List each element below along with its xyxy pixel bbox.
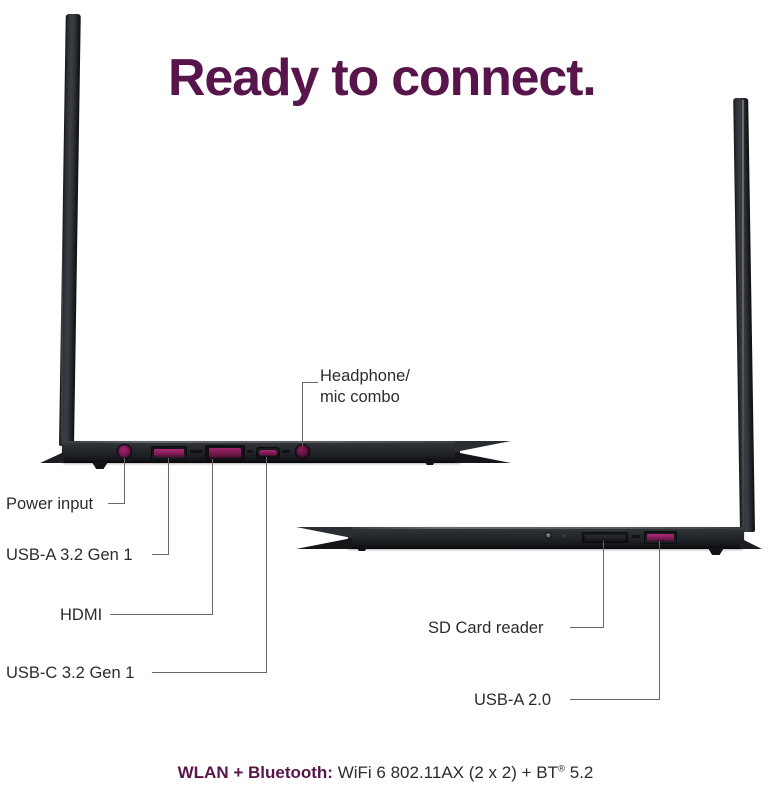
laptop-right-base: [348, 527, 744, 549]
laptop-left-lid-highlight: [61, 16, 63, 444]
usb-c-port-contacts: [259, 450, 277, 457]
laptop-right-base-taper: [296, 527, 352, 549]
wlan-bluetooth-spec: WLAN + Bluetooth: WiFi 6 802.11AX (2 x 2…: [0, 763, 771, 783]
laptop-right-foot: [708, 548, 724, 555]
usb-a-port-contacts: [154, 449, 184, 457]
registered-trademark-mark: ®: [558, 763, 565, 774]
label-sd-card-reader: SD Card reader: [428, 618, 544, 639]
leader-usb-a-horizontal: [152, 554, 169, 555]
leader-usb-a-20-horizontal: [570, 699, 660, 700]
left-chassis-vent-a: [190, 450, 203, 453]
laptop-right-base-shadow: [348, 546, 744, 549]
laptop-left-base-tip: [40, 441, 64, 463]
wlan-bluetooth-label: WLAN + Bluetooth:: [178, 763, 333, 782]
label-usb-a-32-gen1: USB-A 3.2 Gen 1: [6, 545, 133, 566]
laptop-left-base-shadow: [62, 460, 460, 463]
leader-headphone-horizontal: [302, 382, 318, 383]
left-chassis-vent-c: [282, 450, 290, 453]
hdmi-port-contacts: [209, 448, 241, 458]
label-usb-c-32-gen1: USB-C 3.2 Gen 1: [6, 663, 134, 684]
leader-sd-card-vertical: [603, 541, 604, 628]
label-hdmi: HDMI: [60, 605, 102, 626]
label-headphone-mic-combo: Headphone/ mic combo: [320, 366, 410, 408]
sd-card-slot-opening: [585, 535, 625, 541]
leader-sd-card-horizontal: [570, 627, 604, 628]
leader-usb-c-horizontal: [152, 672, 267, 673]
power-input-port: [118, 445, 131, 458]
usb-a-20-port: [644, 531, 677, 544]
label-headphone-line2: mic combo: [320, 387, 410, 408]
laptop-right-screen-lid: [733, 98, 755, 532]
leader-usb-c-vertical: [266, 457, 267, 673]
laptop-left-foot: [92, 462, 108, 469]
headphone-mic-jack: [296, 445, 309, 458]
power-led: [546, 533, 551, 538]
wlan-bluetooth-value-post: 5.2: [570, 763, 594, 782]
right-chassis-vent: [632, 535, 640, 538]
leader-headphone-vertical: [302, 382, 303, 446]
label-headphone-line1: Headphone/: [320, 366, 410, 387]
left-chassis-vent-b: [247, 450, 253, 453]
leader-hdmi-horizontal: [110, 614, 213, 615]
page-title: Ready to connect.: [168, 48, 595, 108]
product-infographic: Ready to connect.: [0, 0, 771, 798]
sd-card-slot: [582, 532, 628, 543]
leader-usb-a-20-vertical: [659, 541, 660, 700]
usb-c-port: [256, 447, 280, 459]
usb-a-20-port-contacts: [647, 534, 674, 541]
leader-power-input-vertical: [124, 458, 125, 504]
laptop-right-lid-highlight: [742, 100, 744, 530]
leader-power-input-horizontal: [108, 503, 125, 504]
hdmi-port: [205, 445, 245, 461]
laptop-right-base-tip: [740, 527, 762, 549]
laptop-left-base-highlight: [62, 441, 460, 443]
leader-hdmi-vertical: [212, 459, 213, 615]
novo-button: [562, 534, 566, 538]
laptop-right-base-highlight: [348, 527, 744, 529]
laptop-right-foot-left: [355, 545, 369, 551]
wlan-bluetooth-value-pre: WiFi 6 802.11AX (2 x 2) + BT: [338, 763, 558, 782]
laptop-left-foot-right: [423, 459, 437, 465]
label-usb-a-20: USB-A 2.0: [474, 690, 551, 711]
label-power-input: Power input: [6, 494, 93, 515]
leader-usb-a-vertical: [168, 458, 169, 555]
laptop-left-base-taper: [455, 441, 511, 463]
